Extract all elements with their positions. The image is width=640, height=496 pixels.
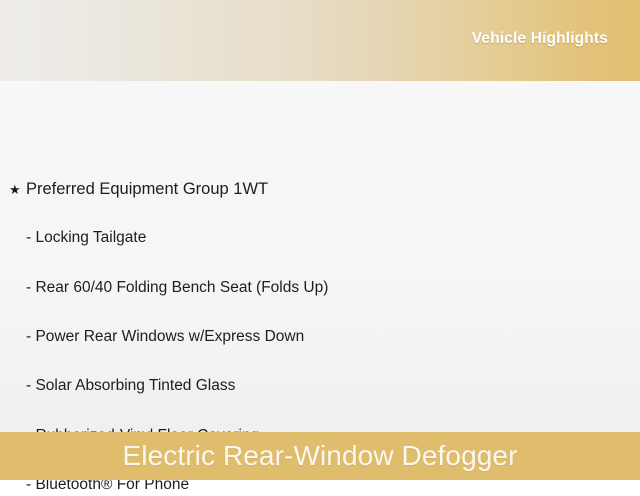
list-item: - Power Rear Windows w/Express Down: [0, 326, 640, 348]
list-item-label: - Locking Tailgate: [26, 228, 146, 248]
footer-bar: Electric Rear-Window Defogger: [0, 432, 640, 480]
page-title: Vehicle Highlights: [472, 30, 608, 48]
highlights-list: ★ Preferred Equipment Group 1WT - Lockin…: [0, 81, 640, 480]
star-icon: ★: [9, 183, 26, 196]
footer-caption: Electric Rear-Window Defogger: [122, 440, 517, 472]
list-item-label: - Power Rear Windows w/Express Down: [26, 327, 304, 347]
list-item-label: - Rear 60/40 Folding Bench Seat (Folds U…: [26, 278, 328, 298]
list-item-label: Preferred Equipment Group 1WT: [26, 179, 268, 199]
list-item: - Rear 60/40 Folding Bench Seat (Folds U…: [0, 277, 640, 299]
list-item: - Solar Absorbing Tinted Glass: [0, 375, 640, 397]
list-item-label: - Solar Absorbing Tinted Glass: [26, 376, 235, 396]
header-banner: Vehicle Highlights: [0, 0, 640, 81]
list-item: ★ Preferred Equipment Group 1WT: [0, 178, 640, 200]
vehicle-highlights-slide: Vehicle Highlights ★ Preferred Equipment…: [0, 0, 640, 480]
list-item: - Locking Tailgate: [0, 227, 640, 249]
